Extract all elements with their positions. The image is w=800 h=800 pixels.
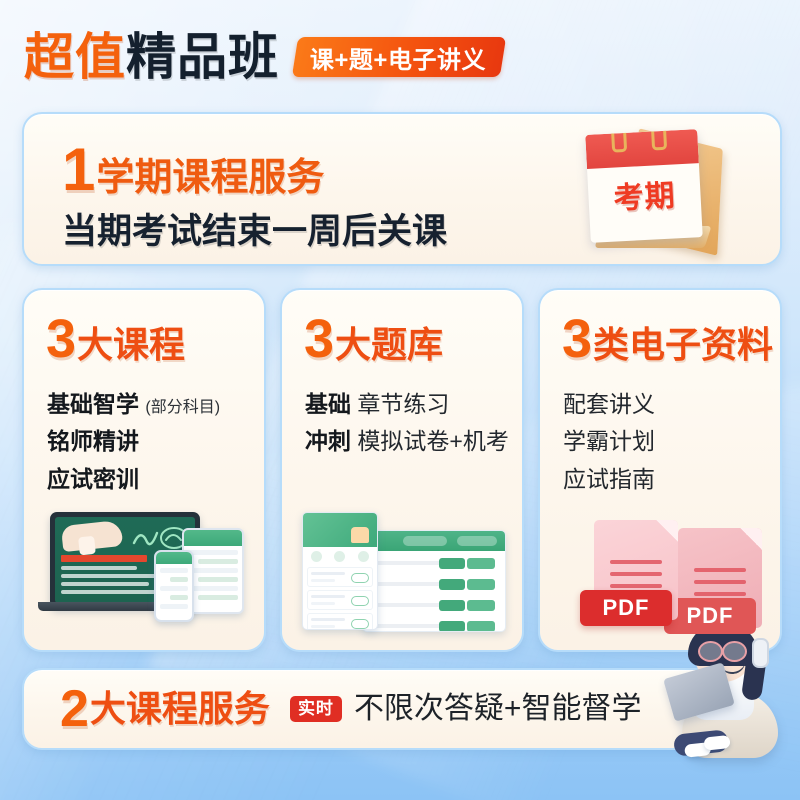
item-note: 章节练习 — [357, 391, 449, 417]
list-item: 学霸计划 — [563, 423, 770, 460]
bottom-description: 不限次答疑+智能督学 — [354, 694, 642, 724]
feature-number: 3 — [46, 312, 75, 366]
list-item: 铭师精讲 — [47, 423, 254, 460]
item-label: 铭师精讲 — [47, 428, 139, 454]
item-label: 冲刺 — [305, 428, 351, 454]
tablet-row — [188, 568, 238, 573]
table-row — [369, 619, 499, 632]
bottom-title: 大课程服务 — [90, 691, 270, 727]
feature-card-title: 3 类电子资料 — [562, 312, 773, 366]
table-row — [369, 577, 499, 593]
mobile-app-panel — [302, 512, 378, 630]
list-item: 基础智学 (部分科目) — [47, 386, 254, 423]
phone-row — [170, 577, 188, 582]
support-agent-mascot — [656, 618, 788, 758]
question-bank-mockup — [292, 506, 512, 638]
calendar-word: 考期 — [587, 169, 701, 219]
phone-device — [154, 550, 194, 622]
feature-item-list: 基础 章节练习 冲刺 模拟试卷+机考 — [305, 386, 512, 461]
bottom-number: 2 — [60, 683, 88, 735]
desktop-app-panel — [362, 530, 506, 632]
list-item: 应试密训 — [47, 461, 254, 498]
calendar-ring-icon — [611, 129, 627, 152]
banner-title-line: 1 学期课程服务 — [62, 140, 447, 200]
pdf-text-line — [610, 560, 662, 564]
page-title: 超值精品班 — [24, 32, 279, 82]
item-label: 配套讲义 — [563, 391, 655, 417]
feature-title: 大题库 — [335, 327, 443, 363]
glasses-icon — [698, 641, 723, 662]
app-icon — [334, 551, 345, 562]
screen-highlight-bar — [61, 555, 147, 562]
realtime-badge: 实时 — [290, 696, 342, 722]
question-card — [307, 567, 373, 587]
feature-title: 类电子资料 — [593, 327, 773, 363]
feature-number: 3 — [304, 312, 333, 366]
page-fold-icon — [740, 528, 762, 550]
headset-earpiece-icon — [752, 638, 769, 668]
device-mockup-illustration — [34, 506, 254, 638]
list-item: 应试指南 — [563, 461, 770, 498]
pdf-label: PDF — [580, 590, 672, 626]
item-label: 学霸计划 — [563, 428, 655, 454]
feature-title: 大课程 — [77, 327, 185, 363]
banner-subtitle: 当期考试结束一周后关课 — [62, 214, 447, 249]
tablet-row — [188, 586, 238, 591]
hand-illustration — [61, 520, 123, 552]
title-rest: 精品班 — [126, 29, 279, 85]
header-badge-label: 课+题+电子讲义 — [310, 40, 486, 75]
header-badge: 课+题+电子讲义 — [292, 37, 506, 77]
app-toolbar — [363, 531, 505, 551]
phone-row — [160, 586, 188, 591]
screen-text-line — [61, 566, 137, 570]
tablet-app-header — [184, 530, 242, 546]
feature-card-title: 3 大题库 — [304, 312, 443, 366]
feature-item-list: 基础智学 (部分科目) 铭师精讲 应试密训 — [47, 386, 254, 498]
screen-text-line — [61, 574, 157, 578]
tablet-row — [188, 550, 238, 555]
pdf-text-line — [694, 580, 746, 584]
banner-title: 学期课程服务 — [96, 159, 324, 197]
app-icon — [311, 551, 322, 562]
pdf-document-icon: PDF — [594, 520, 678, 620]
tablet-row — [198, 559, 238, 564]
app-hero-banner — [303, 513, 377, 547]
item-label: 应试密训 — [47, 466, 139, 492]
question-card — [307, 613, 373, 630]
feature-card-title: 3 大课程 — [46, 312, 185, 366]
item-note: (部分科目) — [145, 399, 220, 416]
phone-row — [160, 568, 188, 573]
table-row — [369, 556, 499, 572]
calendar-page: 考期 — [585, 129, 702, 243]
banner-number: 1 — [62, 140, 94, 200]
course-service-bar: 2 大课程服务 实时 不限次答疑+智能督学 — [22, 668, 726, 750]
item-label: 基础智学 — [47, 391, 139, 417]
title-highlight: 超值 — [24, 29, 126, 85]
feature-card-courses: 3 大课程 基础智学 (部分科目) 铭师精讲 应试密训 — [22, 288, 266, 652]
toolbar-tab — [457, 536, 497, 546]
list-item: 冲刺 模拟试卷+机考 — [305, 423, 512, 460]
phone-row — [170, 595, 188, 600]
app-icon-row — [303, 547, 377, 564]
calendar-header-strip — [585, 129, 699, 169]
tablet-row — [198, 577, 238, 582]
banner-text: 1 学期课程服务 当期考试结束一周后关课 — [62, 140, 447, 249]
phone-row — [160, 604, 188, 609]
phone-app-header — [156, 552, 192, 564]
toolbar-tab — [403, 536, 447, 546]
promo-poster: 超值精品班 课+题+电子讲义 1 学期课程服务 当期考试结束一周后关课 考期 — [0, 0, 800, 800]
screen-text-line — [61, 582, 149, 586]
feature-card-materials: 3 类电子资料 配套讲义 学霸计划 应试指南 PDF — [538, 288, 782, 652]
pdf-document-icon: PDF — [678, 528, 762, 628]
calendar-ring-icon — [651, 129, 667, 150]
list-item: 配套讲义 — [563, 386, 770, 423]
feature-card-question-bank: 3 大题库 基础 章节练习 冲刺 模拟试卷+机考 — [280, 288, 524, 652]
course-period-banner: 1 学期课程服务 当期考试结束一周后关课 考期 — [22, 112, 782, 266]
item-label: 基础 — [305, 391, 351, 417]
screen-text-line — [61, 590, 161, 594]
handwriting-icon — [131, 525, 189, 551]
pdf-text-line — [694, 592, 746, 596]
question-card — [307, 590, 373, 610]
page-fold-icon — [656, 520, 678, 542]
poster-header: 超值精品班 课+题+电子讲义 — [24, 26, 503, 88]
bottom-bar-content: 2 大课程服务 实时 不限次答疑+智能督学 — [24, 683, 641, 735]
feature-item-list: 配套讲义 学霸计划 应试指南 — [563, 386, 770, 498]
pdf-text-line — [694, 568, 746, 572]
feature-number: 3 — [562, 312, 591, 366]
table-row — [369, 598, 499, 614]
tablet-row — [198, 595, 238, 600]
pdf-group: PDF PDF — [550, 508, 770, 636]
pdf-text-line — [610, 584, 662, 588]
item-note: 模拟试卷+机考 — [357, 428, 508, 454]
list-item: 基础 章节练习 — [305, 386, 512, 423]
pdf-illustration: PDF PDF — [550, 506, 770, 638]
pdf-text-line — [610, 572, 662, 576]
calendar-illustration: 考期 — [574, 122, 754, 262]
app-icon — [358, 551, 369, 562]
item-label: 应试指南 — [563, 466, 655, 492]
